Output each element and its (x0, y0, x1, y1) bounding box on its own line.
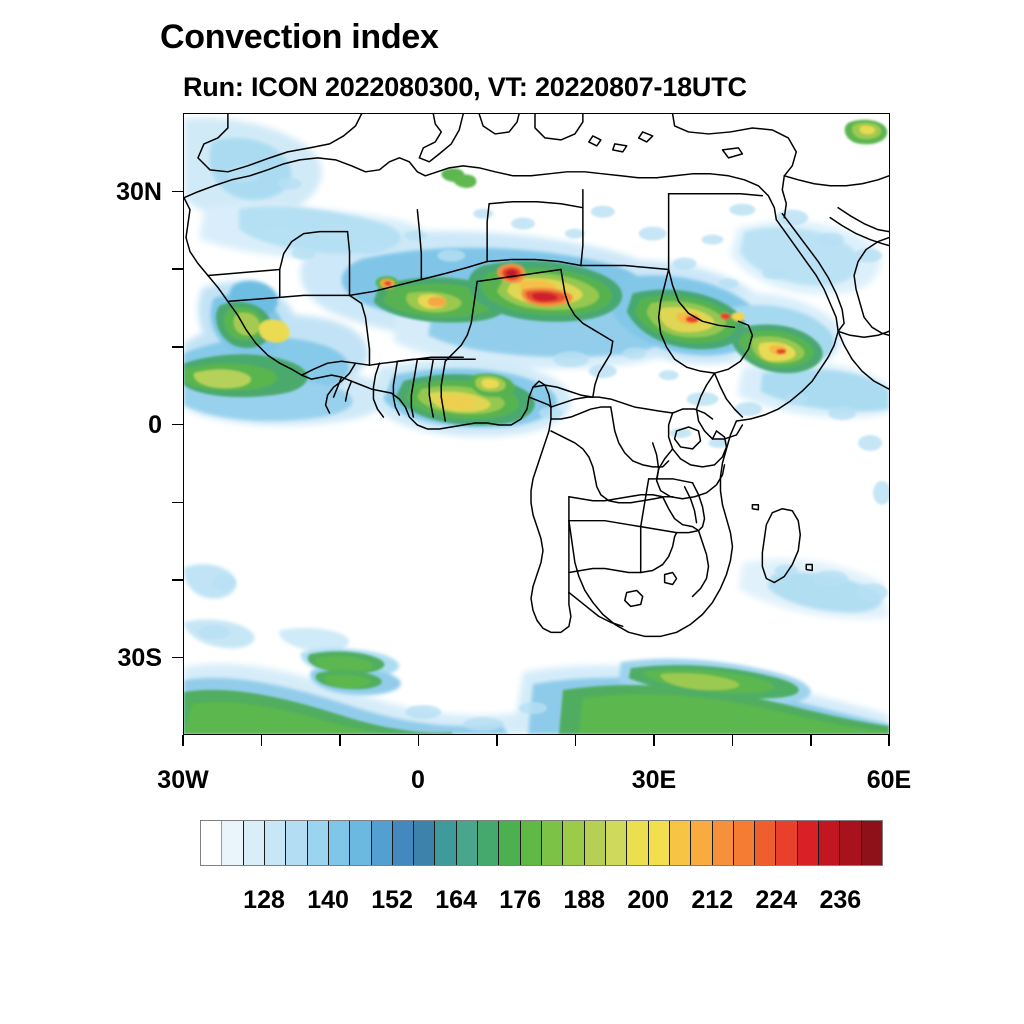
colorbar-cell (265, 821, 286, 865)
colorbar-cell (563, 821, 584, 865)
x-tick (653, 735, 655, 746)
colorbar-cell (521, 821, 542, 865)
colorbar-cell (776, 821, 797, 865)
colorbar-cell (499, 821, 520, 865)
x-tick (418, 735, 420, 746)
y-axis-label-30s: 30S (30, 644, 162, 673)
colorbar-cell (606, 821, 627, 865)
y-axis-label-30n: 30N (30, 178, 162, 207)
colorbar-cell (542, 821, 563, 865)
colorbar-cell (457, 821, 478, 865)
figure-subtitle: Run: ICON 2022080300, VT: 20220807-18UTC (183, 72, 747, 103)
colorbar-cell (350, 821, 371, 865)
x-axis-label-60e: 60E (829, 766, 949, 795)
y-axis-label-0: 0 (30, 411, 162, 440)
colorbar-cell (819, 821, 840, 865)
colorbar-cell (201, 821, 222, 865)
colorbar-cell (414, 821, 435, 865)
x-tick (261, 735, 263, 746)
x-tick (339, 735, 341, 746)
y-tick (172, 657, 183, 659)
colorbar-cell (713, 821, 734, 865)
colorbar-cell (670, 821, 691, 865)
colorbar-cell (308, 821, 329, 865)
colorbar-cell (478, 821, 499, 865)
colorbar-tick-label: 164 (435, 886, 477, 915)
colorbar-tick-label: 188 (563, 886, 605, 915)
page-title: Convection index (160, 18, 439, 57)
x-axis-label-30e: 30E (594, 766, 714, 795)
colorbar-tick-label: 236 (819, 886, 861, 915)
colorbar-tick-label: 128 (243, 886, 285, 915)
x-tick (732, 735, 734, 746)
colorbar-cell (649, 821, 670, 865)
colorbar-tick-label: 140 (307, 886, 349, 915)
y-tick (172, 502, 183, 504)
x-tick (496, 735, 498, 746)
x-tick (888, 735, 890, 746)
colorbar-tick-label: 152 (371, 886, 413, 915)
y-tick (172, 579, 183, 581)
colorbar-cells[interactable] (200, 820, 883, 866)
colorbar-cell (734, 821, 755, 865)
colorbar-cell (372, 821, 393, 865)
colorbar-cell (798, 821, 819, 865)
colorbar-cell (840, 821, 861, 865)
colorbar-cell (755, 821, 776, 865)
colorbar-cell (329, 821, 350, 865)
colorbar[interactable] (200, 820, 883, 866)
colorbar-cell (435, 821, 456, 865)
y-tick (172, 191, 183, 193)
colorbar-tick-label: 176 (499, 886, 541, 915)
x-tick (575, 735, 577, 746)
colorbar-cell (393, 821, 414, 865)
colorbar-cell (286, 821, 307, 865)
colorbar-cell (691, 821, 712, 865)
colorbar-cell (222, 821, 243, 865)
x-axis-label-0: 0 (358, 766, 478, 795)
map-canvas (184, 114, 889, 734)
colorbar-cell (862, 821, 882, 865)
y-tick (172, 424, 183, 426)
x-axis-label-30w: 30W (123, 766, 243, 795)
colorbar-tick-label: 200 (627, 886, 669, 915)
map-plot-area[interactable] (183, 113, 890, 735)
colorbar-tick-label: 212 (691, 886, 733, 915)
y-tick (172, 268, 183, 270)
y-tick (172, 346, 183, 348)
colorbar-cell (585, 821, 606, 865)
x-tick (182, 735, 184, 746)
figure-root: Convection index Run: ICON 2022080300, V… (0, 0, 1024, 1024)
colorbar-cell (244, 821, 265, 865)
x-tick (810, 735, 812, 746)
colorbar-tick-label: 224 (755, 886, 797, 915)
colorbar-cell (627, 821, 648, 865)
